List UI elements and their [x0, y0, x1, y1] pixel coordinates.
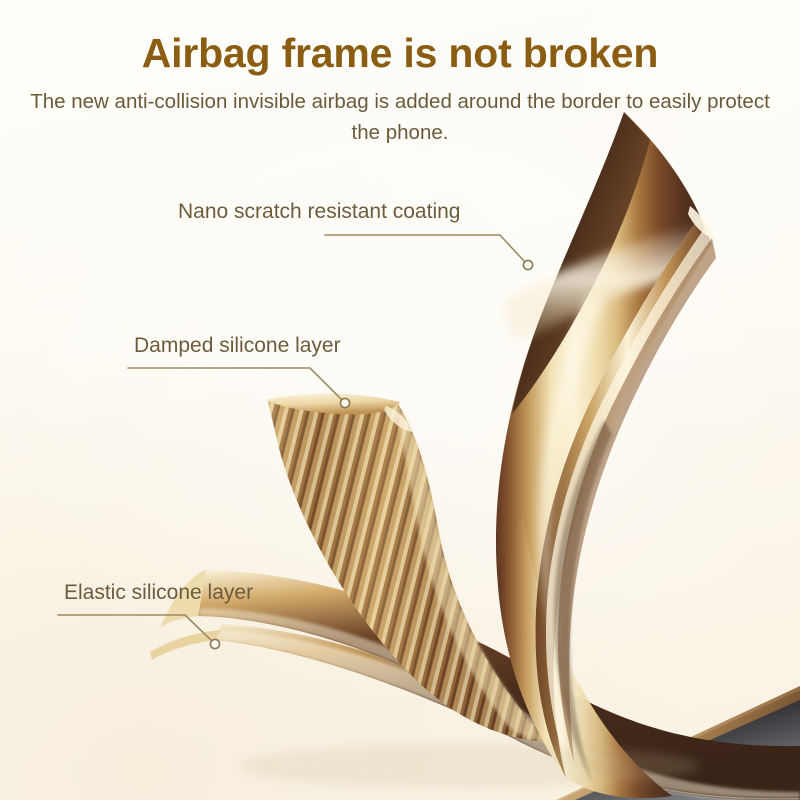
- page-subtitle: The new anti-collision invisible airbag …: [14, 86, 786, 148]
- annotation-label-damped-silicone: Damped silicone layer: [134, 334, 341, 358]
- annotation-label-elastic-silicone: Elastic silicone layer: [64, 581, 253, 605]
- annotation-label-nano-coating: Nano scratch resistant coating: [178, 200, 460, 224]
- page-title: Airbag frame is not broken: [0, 30, 800, 77]
- product-feature-poster: Airbag frame is not broken The new anti-…: [0, 0, 800, 800]
- main-gold-blade: [496, 112, 716, 798]
